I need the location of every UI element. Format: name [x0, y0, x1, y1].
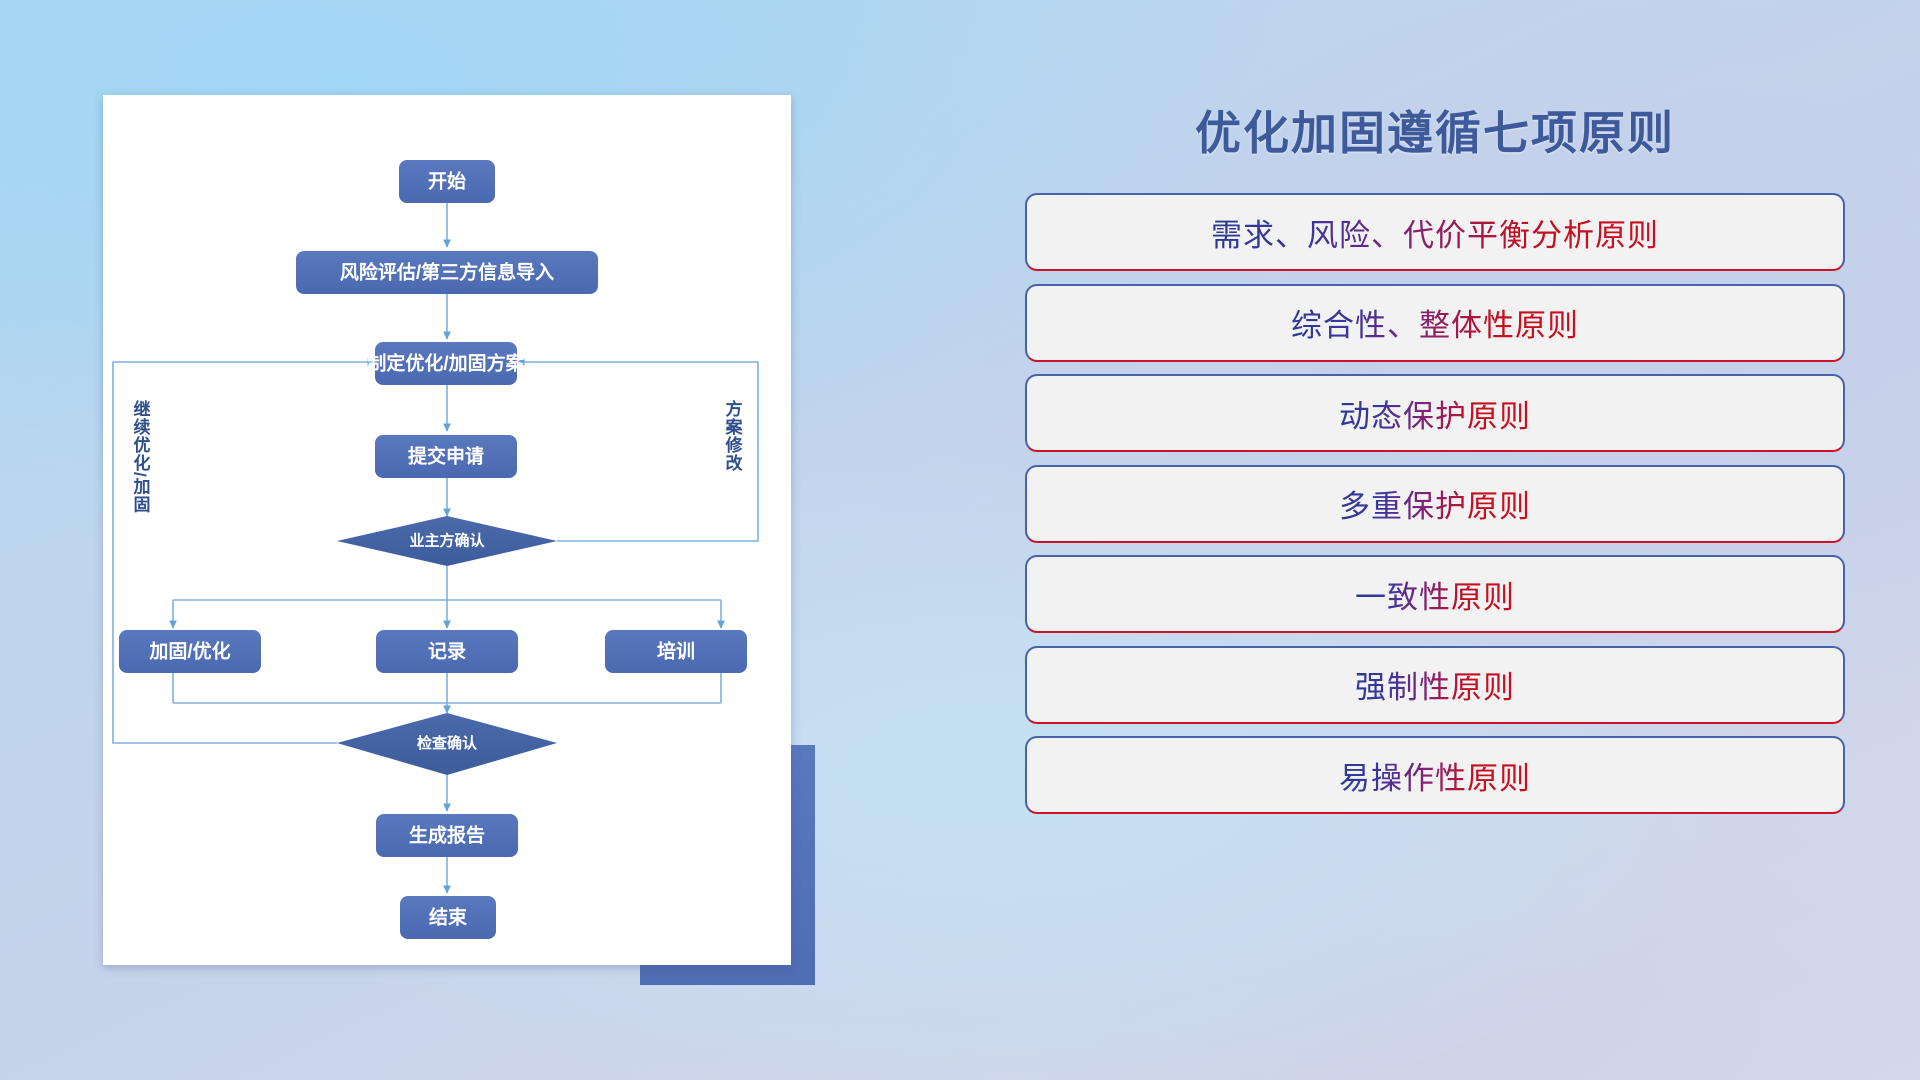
flow-node-risk-label: 风险评估/第三方信息导入: [340, 261, 554, 284]
principle-label-1: 需求、风险、代价平衡分析原则: [1211, 210, 1659, 255]
principle-item-5[interactable]: 一致性原则: [1025, 555, 1845, 633]
flow-node-submit[interactable]: 提交申请: [375, 435, 517, 478]
flow-node-training-label: 培训: [657, 640, 695, 663]
principle-label-7: 易操作性原则: [1339, 753, 1531, 798]
flow-node-record[interactable]: 记录: [376, 630, 518, 673]
principles-panel: 优化加固遵循七项原则 需求、风险、代价平衡分析原则 综合性、整体性原则 动态保护…: [1020, 88, 1850, 1018]
flow-node-start-label: 开始: [428, 170, 466, 193]
flow-node-risk[interactable]: 风险评估/第三方信息导入: [296, 251, 598, 294]
flow-node-reinforce[interactable]: 加固/优化: [119, 630, 261, 673]
principle-label-2: 综合性、整体性原则: [1291, 300, 1579, 345]
principle-item-6[interactable]: 强制性原则: [1025, 646, 1845, 724]
flow-edge-label-continue-optimize: 继续优化/加固: [131, 399, 152, 514]
principle-item-2[interactable]: 综合性、整体性原则: [1025, 284, 1845, 362]
flow-node-report-label: 生成报告: [409, 824, 485, 847]
flow-node-end-label: 结束: [429, 906, 468, 929]
flow-node-owner-confirm-label: 业主方确认: [409, 531, 485, 549]
flow-node-start[interactable]: 开始: [399, 160, 495, 203]
flow-node-owner-confirm[interactable]: 业主方确认: [337, 516, 557, 566]
flow-node-record-label: 记录: [428, 641, 466, 663]
flow-node-check[interactable]: 检查确认: [337, 713, 557, 775]
flow-node-plan[interactable]: 制定优化/加固方案: [367, 342, 525, 385]
flowchart-card: 开始 风险评估/第三方信息导入 制定优化/加固方案 提交申请 业主方确认: [103, 95, 791, 965]
flow-node-training[interactable]: 培训: [605, 630, 747, 673]
principles-list: 需求、风险、代价平衡分析原则 综合性、整体性原则 动态保护原则 多重保护原则 一…: [1025, 193, 1845, 827]
panel-title: 优化加固遵循七项原则: [1020, 88, 1850, 156]
principle-item-1[interactable]: 需求、风险、代价平衡分析原则: [1025, 193, 1845, 271]
principle-item-7[interactable]: 易操作性原则: [1025, 736, 1845, 814]
principle-label-3: 动态保护原则: [1339, 391, 1531, 436]
principle-item-4[interactable]: 多重保护原则: [1025, 465, 1845, 543]
flow-node-submit-label: 提交申请: [408, 445, 484, 468]
flow-node-check-label: 检查确认: [417, 734, 478, 752]
principle-label-5: 一致性原则: [1355, 572, 1515, 617]
flow-edge-label-plan-revision: 方案修改: [723, 399, 744, 472]
flow-node-end[interactable]: 结束: [400, 896, 496, 939]
flow-node-plan-label: 制定优化/加固方案: [367, 352, 525, 375]
flow-node-report[interactable]: 生成报告: [376, 814, 518, 857]
slide-canvas: 开始 风险评估/第三方信息导入 制定优化/加固方案 提交申请 业主方确认: [0, 0, 1920, 1080]
principle-label-6: 强制性原则: [1355, 662, 1515, 707]
flowchart-diagram: 开始 风险评估/第三方信息导入 制定优化/加固方案 提交申请 业主方确认: [103, 95, 791, 965]
principle-label-4: 多重保护原则: [1339, 481, 1531, 526]
principle-item-3[interactable]: 动态保护原则: [1025, 374, 1845, 452]
flow-node-reinforce-label: 加固/优化: [148, 640, 230, 663]
